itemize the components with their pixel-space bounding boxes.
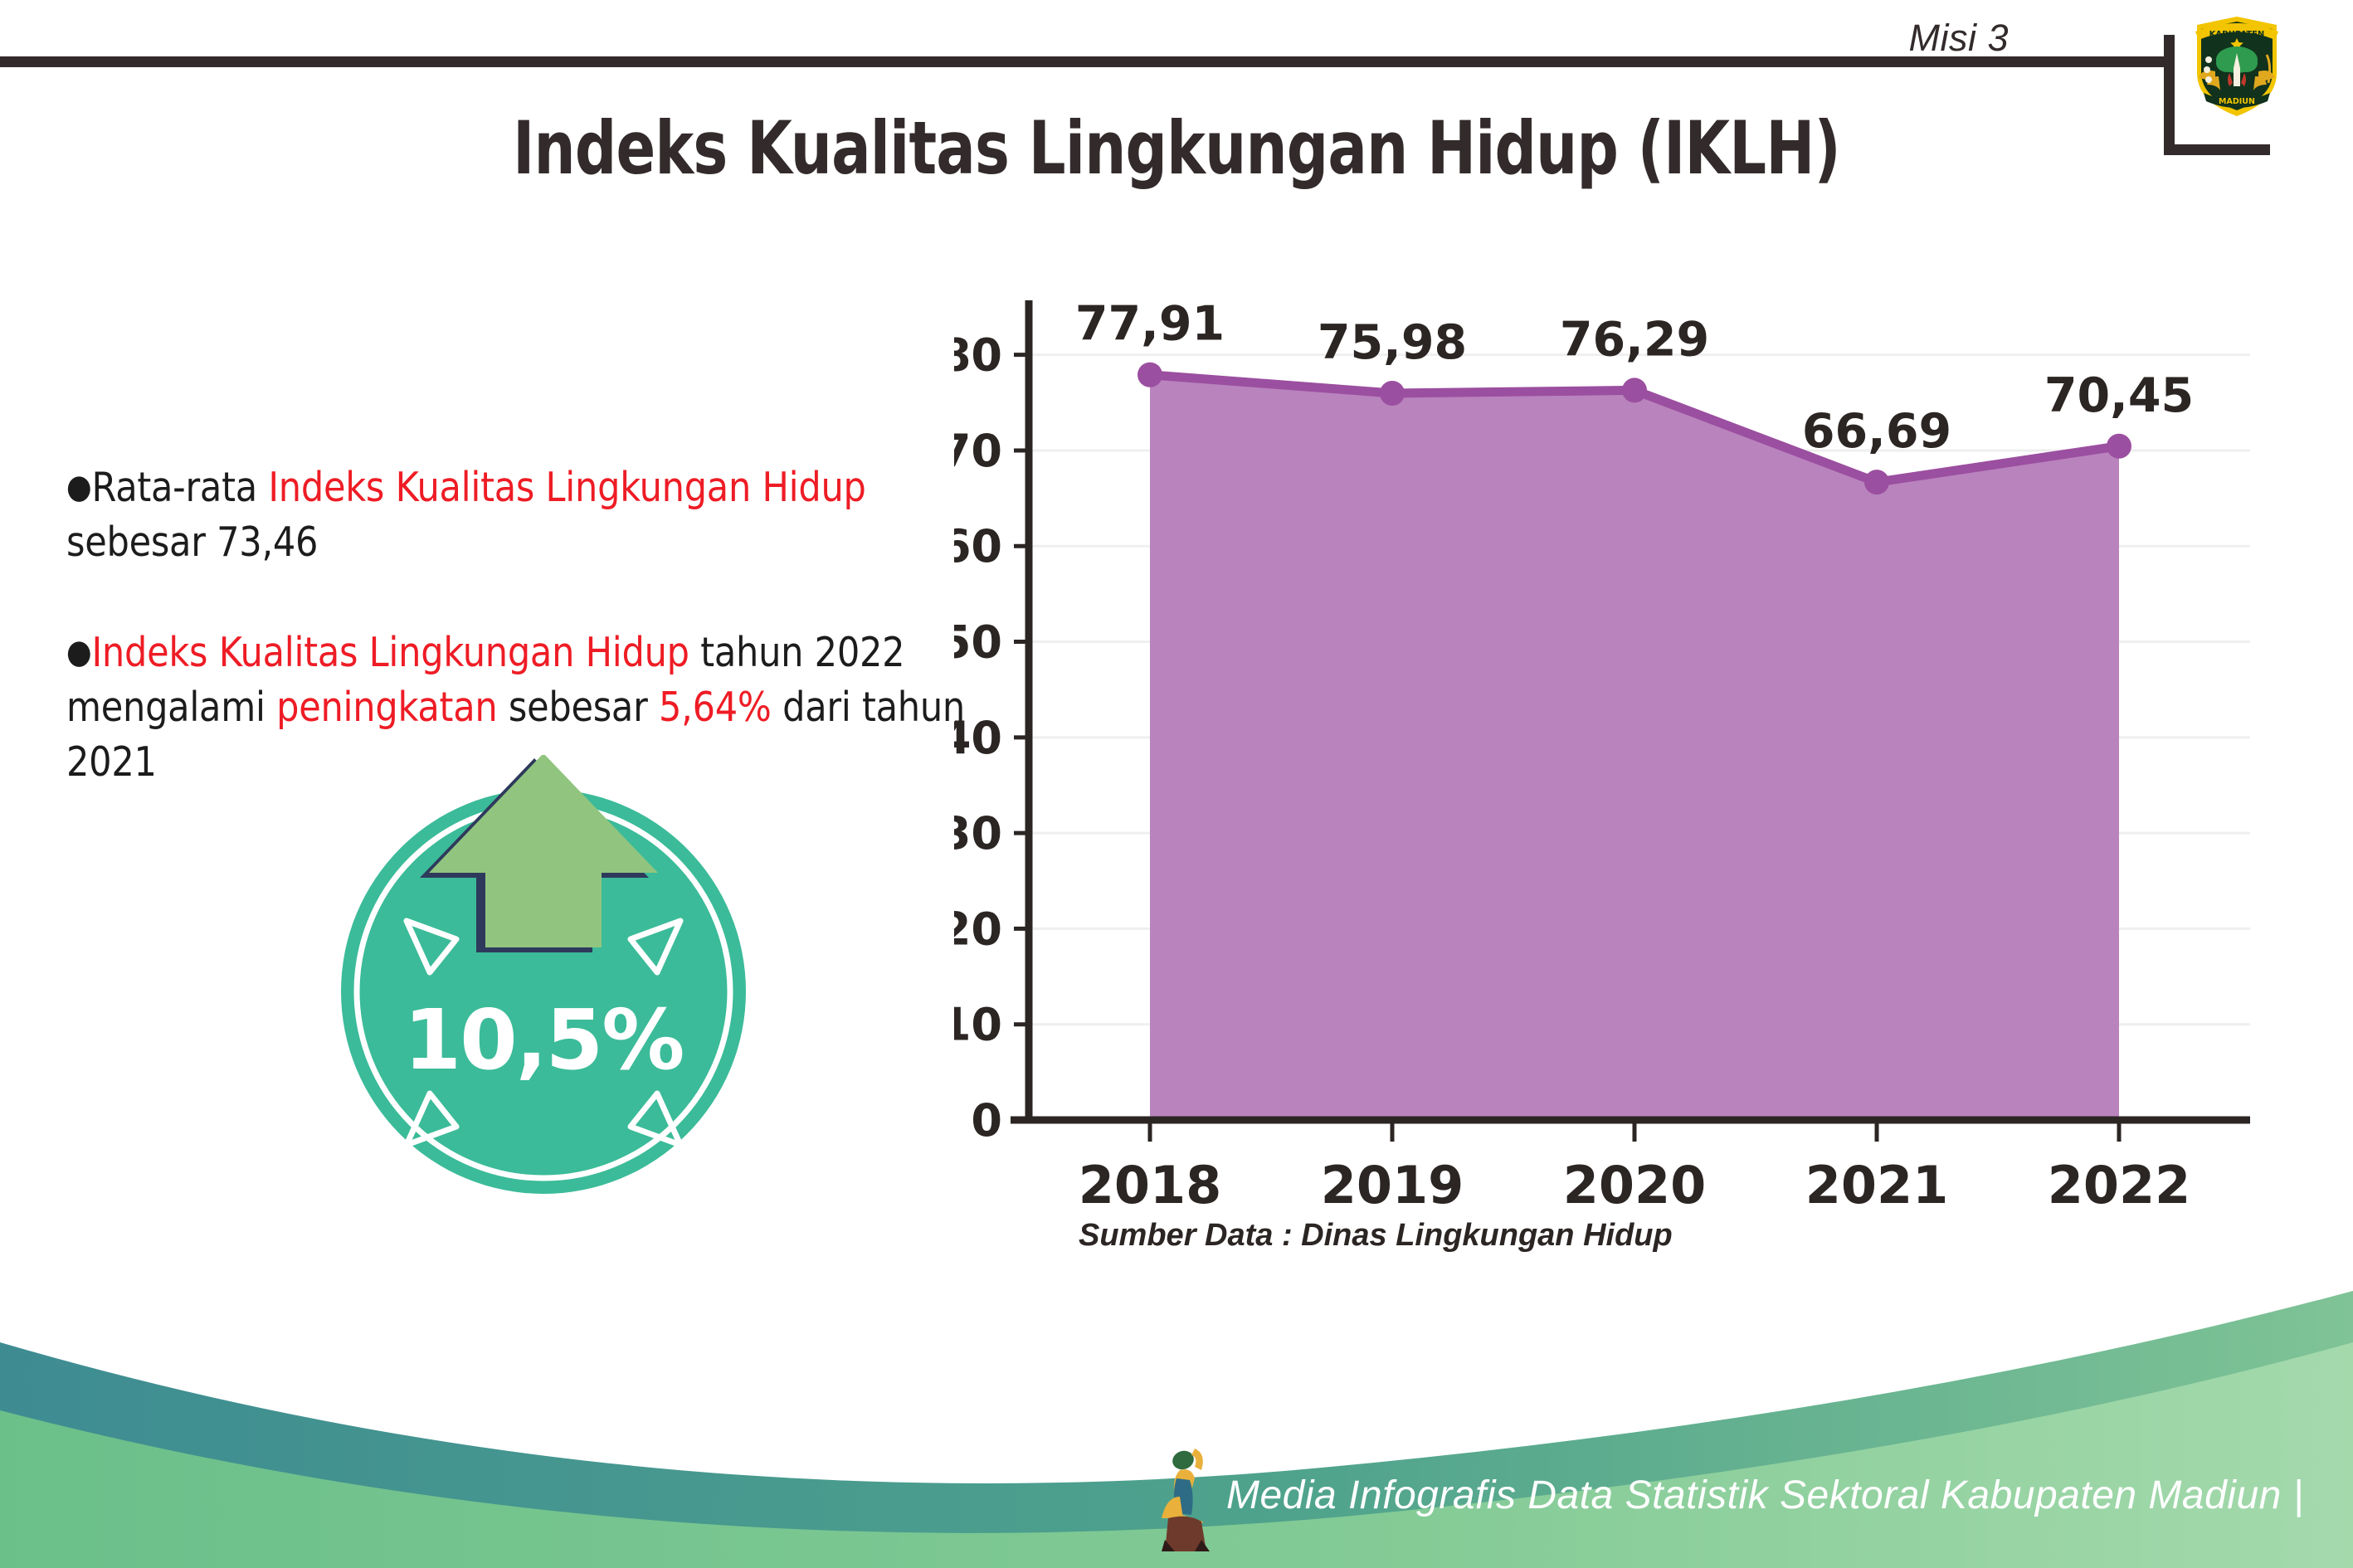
chart-canvas: 01020304050607080 20182019202020212022 7… <box>954 282 2298 1286</box>
bullet-2-seg-3: sebesar <box>497 684 659 731</box>
data-point-marker <box>2107 434 2131 459</box>
y-axis-tick-label: 60 <box>954 520 1002 572</box>
bullet-1-seg-2: sebesar 73,46 <box>66 519 318 566</box>
growth-badge: 10,5% <box>332 755 755 1195</box>
x-axis-tick-label: 2021 <box>1805 1155 1949 1215</box>
y-axis-tick-label: 20 <box>954 903 1002 955</box>
iklh-area-chart: 01020304050607080 20182019202020212022 7… <box>954 282 2298 1286</box>
logo-top-text: KABUPATEN <box>2209 30 2265 39</box>
bullet-2-seg-4: 5,64% <box>659 684 772 731</box>
misi-label: Misi 3 <box>1908 17 2009 60</box>
y-axis-tick-label: 30 <box>954 807 1002 859</box>
x-axis-tick-label: 2018 <box>1079 1155 1222 1215</box>
logo-bracket-vertical <box>2164 35 2175 155</box>
x-axis-tick-label: 2020 <box>1563 1155 1707 1215</box>
x-axis-tick-label: 2022 <box>2048 1155 2191 1215</box>
growth-badge-graphic <box>332 755 755 1195</box>
y-axis-tick-label: 50 <box>954 616 1002 669</box>
bullet-2-seg-2: peningkatan <box>276 684 497 731</box>
chart-x-axis-labels: 20182019202020212022 <box>1079 1155 2191 1215</box>
logo-bracket-horizontal <box>2164 144 2270 155</box>
y-axis-tick-label: 0 <box>971 1094 1002 1147</box>
chart-y-axis-labels: 01020304050607080 <box>954 329 1002 1147</box>
chart-area-fill <box>1150 375 2119 1120</box>
footer-mascot-icon <box>1143 1442 1235 1558</box>
data-point-marker <box>1864 470 1889 494</box>
bullet-dot-icon: ● <box>66 633 91 671</box>
bullet-1-seg-0: Rata-rata <box>91 464 268 511</box>
chart-source-note: Sumber Data : Dinas Lingkungan Hidup <box>1079 1218 1673 1254</box>
data-point-marker <box>1622 377 1647 402</box>
bullet-2-seg-0: Indeks Kualitas Lingkungan Hidup <box>91 629 689 676</box>
area-path <box>1150 375 2119 1120</box>
bullet-1-seg-1: Indeks Kualitas Lingkungan Hidup <box>268 464 865 511</box>
data-point-label: 77,91 <box>1075 297 1225 352</box>
data-point-marker <box>1138 363 1162 387</box>
y-axis-tick-label: 40 <box>954 712 1002 764</box>
data-point-label: 70,45 <box>2044 368 2194 423</box>
data-point-marker <box>1380 381 1405 406</box>
logo-bottom-text: MADIUN <box>2219 97 2255 106</box>
bullet-dot-icon: ● <box>66 468 91 506</box>
x-axis-tick-label: 2019 <box>1321 1155 1464 1215</box>
summary-bullets: ●Rata-rata Indeks Kualitas Lingkungan Hi… <box>66 460 996 789</box>
y-axis-tick-label: 80 <box>954 329 1002 382</box>
footer-caption: Media Infografis Data Statistik Sektoral… <box>1226 1473 2304 1518</box>
data-point-label: 75,98 <box>1318 315 1467 370</box>
page-title: Indeks Kualitas Lingkungan Hidup (IKLH) <box>236 112 2118 185</box>
data-point-label: 66,69 <box>1802 404 1951 459</box>
kabupaten-madiun-logo-icon: KABUPATEN MADIUN <box>2190 10 2283 119</box>
y-axis-tick-label: 10 <box>954 999 1002 1051</box>
header-divider-rule <box>0 56 2167 67</box>
y-axis-tick-label: 70 <box>954 425 1002 477</box>
bullet-item-1: ●Rata-rata Indeks Kualitas Lingkungan Hi… <box>66 460 994 569</box>
badge-value: 10,5% <box>332 991 755 1088</box>
data-point-label: 76,29 <box>1560 312 1709 367</box>
